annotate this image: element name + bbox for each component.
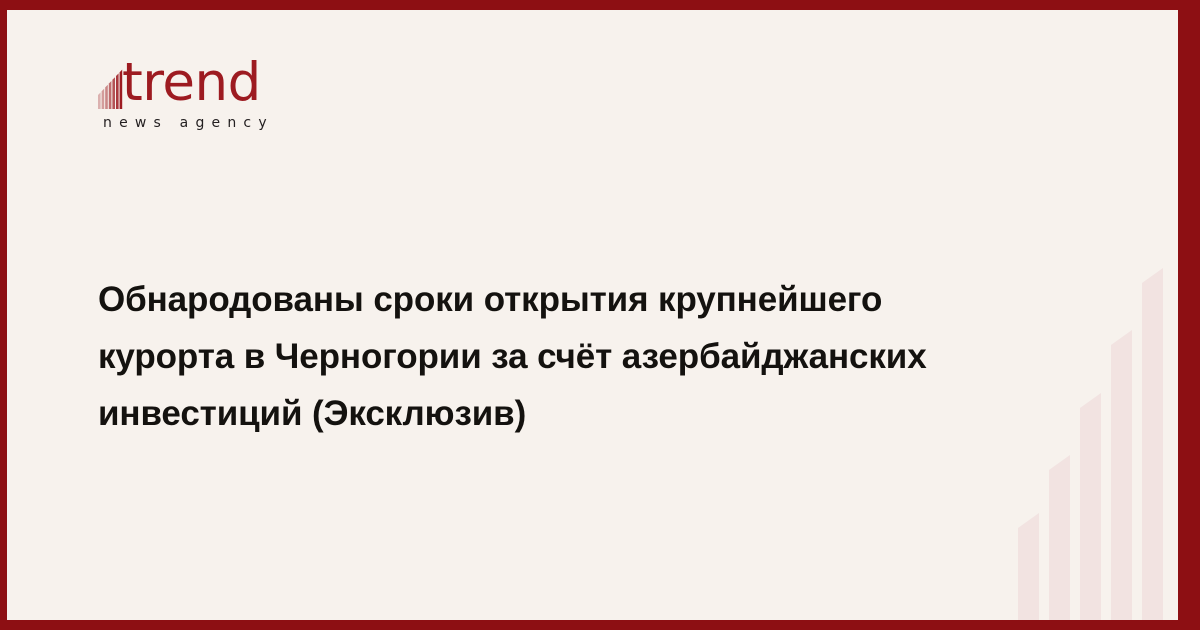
article-share-card: trend news agency Обнародованы сроки отк… xyxy=(0,0,1200,630)
logo-tagline: news agency xyxy=(103,115,358,131)
ascending-bars-mark-icon xyxy=(98,61,124,109)
site-logo[interactable]: trend news agency xyxy=(98,53,358,131)
article-headline: Обнародованы сроки открытия крупнейшего … xyxy=(98,271,1058,442)
logo-wordmark-row: trend xyxy=(98,53,358,109)
card-canvas: trend news agency Обнародованы сроки отк… xyxy=(7,10,1178,620)
headline-line-3: инвестиций (Эксклюзив) xyxy=(98,385,1058,442)
headline-line-1: Обнародованы сроки открытия крупнейшего xyxy=(98,271,1058,328)
headline-line-2: курорта в Черногории за счёт азербайджан… xyxy=(98,328,1058,385)
logo-wordmark: trend xyxy=(122,59,261,107)
